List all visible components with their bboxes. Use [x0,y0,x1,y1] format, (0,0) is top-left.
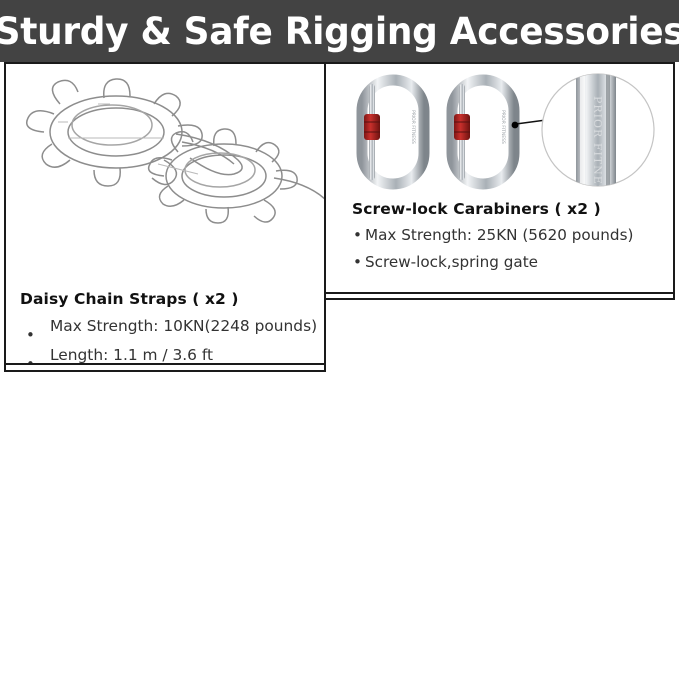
carabiner-brand-label: PRIOR FITNESS [591,96,604,198]
bullet-glyph: • [353,252,362,272]
header-bar: Sturdy & Safe Rigging Accessories [0,0,679,62]
page-title: Sturdy & Safe Rigging Accessories [0,10,679,53]
list-item: • Max Strength: 10KN(2248 pounds) [20,318,326,335]
daisy-chain-straps-image [8,68,326,228]
strap-coil-left [27,79,242,186]
panel-screw-lock-carabiners: PRIOR FITNESS PRIOR FITNESS [326,62,675,294]
callout-leader-line [516,120,546,124]
carabiners-title: Screw-lock Carabiners ( x2 ) [352,200,668,218]
product-infographic: Sturdy & Safe Rigging Accessories [0,0,679,679]
panel-grid: kN50 PRIOR FITNESS PRIOR FITNESS kN5 [4,62,675,675]
carabiners-bullets: • Max Strength: 25KN (5620 pounds) • Scr… [352,225,668,272]
bullet-glyph: • [353,225,362,245]
carabiners-image: PRIOR FITNESS PRIOR FITNESS [340,70,666,198]
callout-lens: PRIOR FITNESS [542,74,654,198]
list-item: • Screw-lock,spring gate [352,252,668,272]
carabiners-text-block: Screw-lock Carabiners ( x2 ) • Max Stren… [352,200,668,272]
carabiner-right: PRIOR FITNESS [452,80,514,184]
bullet-glyph: • [26,356,35,365]
bullet-glyph: • [26,327,35,344]
carabiner-left: PRIOR FITNESS [362,80,424,184]
strap-coil-right [149,129,326,223]
screw-lock-sleeve [364,114,380,140]
daisy-bullets: • Max Strength: 10KN(2248 pounds) • Leng… [20,318,326,365]
screw-lock-sleeve [454,114,470,140]
list-item: • Max Strength: 25KN (5620 pounds) [352,225,668,245]
list-item: • Length: 1.1 m / 3.6 ft [20,347,326,364]
panel-daisy-chain-straps: Daisy Chain Straps ( x2 ) • Max Strength… [4,62,326,365]
svg-text:PRIOR FITNESS: PRIOR FITNESS [410,110,416,144]
svg-text:PRIOR FITNESS: PRIOR FITNESS [500,110,506,144]
daisy-title: Daisy Chain Straps ( x2 ) [20,290,326,308]
daisy-text-block: Daisy Chain Straps ( x2 ) • Max Strength… [20,290,326,365]
